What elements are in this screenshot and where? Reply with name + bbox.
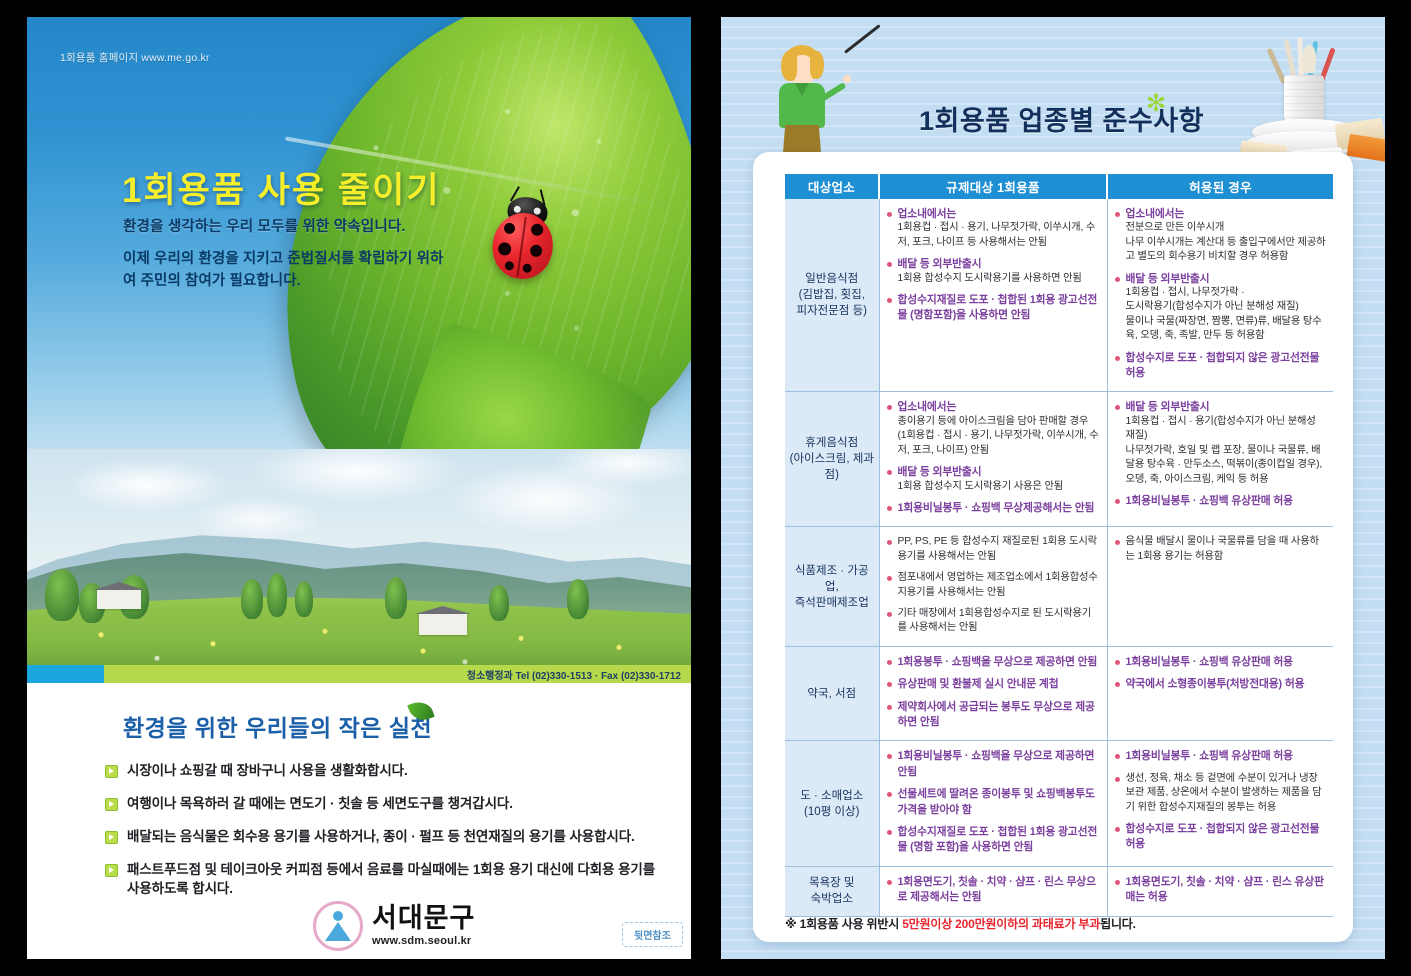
bullet-body: 제약회사에서 공급되는 봉투도 무상으로 제공하면 안됨 bbox=[898, 701, 1095, 728]
row-allowed-items: 배달 등 외부반출시1회용컵 · 접시 · 용기(합성수지가 아닌 분해성 재질… bbox=[1107, 392, 1333, 527]
row-regulated-items: PP, PS, PE 등 합성수지 재질로된 1회용 도시락용기를 사용해서는 … bbox=[879, 527, 1107, 646]
plastic-bag bbox=[1347, 134, 1385, 162]
row-category: 식품제조 · 가공업,즉석판매제조업 bbox=[785, 527, 879, 646]
bullet-body: 합성수지재질로 도포 · 첩합된 1회용 광고선전물 (명함포함)을 사용하면 … bbox=[898, 294, 1098, 321]
row-category: 일반음식점(김밥집, 횟집,피자전문점 등) bbox=[785, 199, 879, 392]
sdm-logo: 서대문구 www.sdm.seoul.kr bbox=[313, 901, 475, 951]
bullet-body: 물이나 국물(짜장면, 짬뽕, 면류)류, 배달용 탕수육, 오뎅, 죽, 족발… bbox=[1126, 316, 1322, 341]
spoon bbox=[1301, 45, 1317, 74]
bullet-item: 합성수지재질로 도포 · 첩합된 1회용 광고선전물 (명함포함)을 사용하면 … bbox=[887, 293, 1100, 324]
table-row: 휴게음식점(아이스크림, 제과점)업소내에서는종이용기 등에 아이스크림을 담아… bbox=[785, 392, 1333, 527]
bullet-heading: 배달 등 외부반출시 bbox=[1126, 272, 1327, 286]
row-regulated-items: 1회용비닐봉투 · 쇼핑백을 무상으로 제공하면 안됨선물세트에 딸려온 종이봉… bbox=[879, 741, 1107, 866]
bullet-body: 1회용비닐봉투 · 쇼핑백 무상제공해서는 안됨 bbox=[898, 502, 1095, 514]
homepage-url-text: 1회용품 홈페이지 www.me.go.kr bbox=[60, 50, 210, 65]
column-header-category: 대상업소 bbox=[785, 174, 879, 199]
bullet-item: 1회용면도기, 칫솔 · 치약 · 샴프 · 린스 무상으로 제공해서는 안됨 bbox=[887, 875, 1100, 906]
table-row: 식품제조 · 가공업,즉석판매제조업PP, PS, PE 등 합성수지 재질로된… bbox=[785, 527, 1333, 646]
penalty-note: ※ 1회용품 사용 위반시 5만원이상 200만원이하의 과태료가 부과됩니다. bbox=[785, 915, 1136, 932]
teacher-hair-left bbox=[781, 51, 797, 81]
pointer-stick-icon bbox=[844, 24, 881, 53]
bullet-item: 약국에서 소형종이봉투(처방전대용) 허용 bbox=[1115, 677, 1327, 692]
list-item: 배달되는 음식물은 회수용 용기를 사용하거나, 종이 · 펄프 등 천연재질의… bbox=[105, 827, 665, 846]
practice-title: 환경을 위한 우리들의 작은 실천 bbox=[123, 709, 432, 743]
landscape-photo bbox=[27, 449, 691, 667]
row-regulated-items: 1회용면도기, 칫솔 · 치약 · 샴프 · 린스 무상으로 제공해서는 안됨 bbox=[879, 866, 1107, 916]
bullet-body: 1회용비닐봉투 · 쇼핑백 유상판매 허용 bbox=[1126, 750, 1293, 762]
bullet-item: 제약회사에서 공급되는 봉투도 무상으로 제공하면 안됨 bbox=[887, 700, 1100, 731]
bullet-item: 1회용봉투 · 쇼핑백을 무상으로 제공하면 안됨 bbox=[887, 655, 1100, 670]
right-page-brochure-back: 1회용품 업종별 준수사항 ✻ 대상업소 규제대상 1회용품 허용된 경우 일반… bbox=[721, 17, 1385, 959]
row-category: 약국, 서점 bbox=[785, 646, 879, 741]
bullet-body: 유상판매 및 환불제 실시 안내문 계첩 bbox=[898, 678, 1059, 690]
bullet-item: 1회용비닐봉투 · 쇼핑백 유상판매 허용 bbox=[1115, 494, 1327, 509]
house bbox=[419, 613, 467, 635]
ladybug-illustration bbox=[486, 191, 561, 283]
row-regulated-items: 업소내에서는1회용컵 · 접시 · 용기, 나무젓가락, 이쑤시개, 수저, 포… bbox=[879, 199, 1107, 392]
bullet-item: 1회용비닐봉투 · 쇼핑백을 무상으로 제공하면 안됨 bbox=[887, 749, 1100, 780]
bullet-body: 1회용비닐봉투 · 쇼핑백 유상판매 허용 bbox=[1126, 495, 1293, 507]
row-allowed-items: 음식물 배달시 물이나 국물류를 담을 때 사용하는 1회용 용기는 허용함 bbox=[1107, 527, 1333, 646]
tree bbox=[385, 577, 407, 619]
teacher-hair-right bbox=[810, 51, 824, 79]
district-name: 서대문구 bbox=[372, 905, 475, 932]
district-url: www.sdm.seoul.kr bbox=[372, 936, 475, 947]
table-body: 일반음식점(김밥집, 횟집,피자전문점 등)업소내에서는1회용컵 · 접시 · … bbox=[785, 199, 1333, 916]
row-allowed-items: 업소내에서는전분으로 만든 이쑤시개나무 이쑤시개는 계산대 등 출입구에서만 … bbox=[1107, 199, 1333, 392]
table-row: 약국, 서점1회용봉투 · 쇼핑백을 무상으로 제공하면 안됨유상판매 및 환불… bbox=[785, 646, 1333, 741]
tree bbox=[295, 581, 313, 617]
bullet-item: 음식물 배달시 물이나 국물류를 담을 때 사용하는 1회용 용기는 허용함 bbox=[1115, 535, 1327, 564]
arrow-bullet-icon bbox=[105, 798, 118, 811]
table-row: 일반음식점(김밥집, 횟집,피자전문점 등)업소내에서는1회용컵 · 접시 · … bbox=[785, 199, 1333, 392]
bullet-body: 합성수지재질로 도포 · 첩합된 1회용 광고선전물 (명함 포함)을 사용하면… bbox=[898, 826, 1098, 853]
bullet-body: 합성수지로 도포 · 첩합되지 않은 광고선전물 허용 bbox=[1126, 352, 1320, 379]
bullet-body: 1회용컵 · 접시, 나무젓가락 · bbox=[1126, 287, 1245, 298]
row-regulated-items: 1회용봉투 · 쇼핑백을 무상으로 제공하면 안됨유상판매 및 환불제 실시 안… bbox=[879, 646, 1107, 741]
arrow-bullet-icon bbox=[105, 831, 118, 844]
contact-info: 청소행정과 Tel (02)330-1513 · Fax (02)330-171… bbox=[467, 667, 681, 682]
bullet-body: 점포내에서 영업하는 제조업소에서 1회용합성수지용기를 사용해서는 안됨 bbox=[898, 572, 1098, 597]
row-regulated-items: 업소내에서는종이용기 등에 아이스크림을 담아 판매할 경우(1회용컵 · 접시… bbox=[879, 392, 1107, 527]
bullet-item: 1회용비닐봉투 · 쇼핑백 유상판매 허용 bbox=[1115, 655, 1327, 670]
bullet-item: 업소내에서는종이용기 등에 아이스크림을 담아 판매할 경우(1회용컵 · 접시… bbox=[887, 400, 1100, 458]
sdm-logo-emblem-icon bbox=[313, 901, 363, 951]
arrow-bullet-icon bbox=[105, 765, 118, 778]
bullet-body: 도시락용기(합성수지가 아닌 분해성 재질) bbox=[1126, 301, 1299, 312]
penalty-note-suffix: 됩니다. bbox=[1100, 917, 1136, 931]
bullet-item: 유상판매 및 환불제 실시 안내문 계첩 bbox=[887, 677, 1100, 692]
bullet-heading: 업소내에서는 bbox=[898, 400, 1100, 414]
star-accent-icon: ✻ bbox=[1146, 89, 1166, 118]
subtitle-secondary: 이제 우리의 환경을 지키고 준법질서를 확립하기 위하여 주민의 참여가 필요… bbox=[123, 248, 453, 292]
bullet-body: 나무젓가락, 호일 및 랩 포장, 물이나 국물류, 배달용 탕수육 · 만두소… bbox=[1126, 445, 1323, 485]
bullet-body: 선물세트에 딸려온 종이봉투 및 쇼핑백봉투도 가격을 받아야 함 bbox=[898, 788, 1095, 815]
bullet-body: 합성수지로 도포 · 첩합되지 않은 광고선전물 허용 bbox=[1126, 823, 1320, 850]
bullet-heading: 업소내에서는 bbox=[898, 207, 1100, 221]
practice-item-text: 여행이나 목욕하러 갈 때에는 면도기 · 칫솔 등 세면도구를 챙겨갑시다. bbox=[127, 794, 513, 813]
sdm-logo-text: 서대문구 www.sdm.seoul.kr bbox=[372, 905, 475, 947]
row-category: 도 · 소매업소(10평 이상) bbox=[785, 741, 879, 866]
bullet-body: 1회용컵 · 접시 · 용기, 나무젓가락, 이쑤시개, 수저, 포크, 나이프… bbox=[898, 222, 1096, 247]
bullet-body: 기타 매장에서 1회용합성수지로 된 도시락용기를 사용해서는 안됨 bbox=[898, 608, 1092, 633]
tree bbox=[567, 579, 589, 619]
bullet-body: 1회용면도기, 칫솔 · 치약 · 샴프 · 린스 유상판매는 허용 bbox=[1126, 876, 1324, 903]
bullet-body: (1회용컵 · 접시 · 용기, 나무젓가락, 이쑤시개, 수저, 포크, 나이… bbox=[898, 430, 1099, 455]
bullet-item: PP, PS, PE 등 합성수지 재질로된 1회용 도시락용기를 사용해서는 … bbox=[887, 535, 1100, 564]
bullet-item: 1회용비닐봉투 · 쇼핑백 무상제공해서는 안됨 bbox=[887, 501, 1100, 516]
column-header-allowed: 허용된 경우 bbox=[1107, 174, 1333, 199]
bullet-body: 1회용컵 · 접시 · 용기(합성수지가 아닌 분해성 재질) bbox=[1126, 416, 1316, 441]
tree bbox=[241, 579, 263, 619]
bullet-item: 합성수지로 도포 · 첩합되지 않은 광고선전물 허용 bbox=[1115, 351, 1327, 382]
row-allowed-items: 1회용비닐봉투 · 쇼핑백 유상판매 허용약국에서 소형종이봉투(처방전대용) … bbox=[1107, 646, 1333, 741]
practice-item-text: 배달되는 음식물은 회수용 용기를 사용하거나, 종이 · 펄프 등 천연재질의… bbox=[127, 827, 635, 846]
teacher-hand bbox=[843, 75, 851, 83]
table-row: 도 · 소매업소(10평 이상)1회용비닐봉투 · 쇼핑백을 무상으로 제공하면… bbox=[785, 741, 1333, 866]
tree bbox=[489, 585, 509, 621]
bullet-body: PP, PS, PE 등 합성수지 재질로된 1회용 도시락용기를 사용해서는 … bbox=[898, 536, 1097, 561]
bullet-item: 1회용비닐봉투 · 쇼핑백 유상판매 허용 bbox=[1115, 749, 1327, 764]
bullet-item: 업소내에서는전분으로 만든 이쑤시개나무 이쑤시개는 계산대 등 출입구에서만 … bbox=[1115, 207, 1327, 265]
bullet-item: 배달 등 외부반출시1회용컵 · 접시, 나무젓가락 ·도시락용기(합성수지가 … bbox=[1115, 272, 1327, 344]
bullet-body: 나무 이쑤시개는 계산대 등 출입구에서만 제공하고 별도의 회수용기 비치할 … bbox=[1126, 237, 1326, 262]
penalty-amount: 5만원이상 200만원이하의 과태료가 부과 bbox=[902, 917, 1100, 931]
page-title: 1회용품 사용 줄이기 bbox=[122, 162, 441, 213]
bullet-heading: 배달 등 외부반출시 bbox=[898, 257, 1100, 271]
row-category: 휴게음식점(아이스크림, 제과점) bbox=[785, 392, 879, 527]
row-category: 목욕장 및숙박업소 bbox=[785, 866, 879, 916]
bullet-body: 1회용비닐봉투 · 쇼핑백을 무상으로 제공하면 안됨 bbox=[898, 750, 1095, 777]
bullet-item: 생선, 정육, 채소 등 겉면에 수분이 있거나 냉장보관 제품, 상온에서 수… bbox=[1115, 772, 1327, 815]
bullet-item: 업소내에서는1회용컵 · 접시 · 용기, 나무젓가락, 이쑤시개, 수저, 포… bbox=[887, 207, 1100, 250]
bullet-item: 배달 등 외부반출시1회용컵 · 접시 · 용기(합성수지가 아닌 분해성 재질… bbox=[1115, 400, 1327, 486]
bullet-body: 약국에서 소형종이봉투(처방전대용) 허용 bbox=[1126, 678, 1305, 690]
practice-item-text: 패스트푸드점 및 테이크아웃 커피점 등에서 음료를 마실때에는 1회용 용기 … bbox=[127, 860, 665, 898]
bullet-body: 음식물 배달시 물이나 국물류를 담을 때 사용하는 1회용 용기는 허용함 bbox=[1126, 536, 1319, 561]
compliance-table: 대상업소 규제대상 1회용품 허용된 경우 일반음식점(김밥집, 횟집,피자전문… bbox=[785, 174, 1333, 917]
bullet-item: 점포내에서 영업하는 제조업소에서 1회용합성수지용기를 사용해서는 안됨 bbox=[887, 571, 1100, 600]
bullet-body: 1회용봉투 · 쇼핑백을 무상으로 제공하면 안됨 bbox=[898, 656, 1098, 668]
bullet-heading: 업소내에서는 bbox=[1126, 207, 1327, 221]
table-header-row: 대상업소 규제대상 1회용품 허용된 경우 bbox=[785, 174, 1333, 199]
bullet-item: 합성수지재질로 도포 · 첩합된 1회용 광고선전물 (명함 포함)을 사용하면… bbox=[887, 825, 1100, 856]
list-item: 여행이나 목욕하러 갈 때에는 면도기 · 칫솔 등 세면도구를 챙겨갑시다. bbox=[105, 794, 665, 813]
bullet-item: 기타 매장에서 1회용합성수지로 된 도시락용기를 사용해서는 안됨 bbox=[887, 607, 1100, 636]
house bbox=[97, 589, 141, 609]
bullet-body: 종이용기 등에 아이스크림을 담아 판매할 경우 bbox=[898, 416, 1089, 427]
bullet-item: 배달 등 외부반출시1회용 합성수지 도시락용기 사용은 안됨 bbox=[887, 465, 1100, 494]
row-allowed-items: 1회용비닐봉투 · 쇼핑백 유상판매 허용생선, 정육, 채소 등 겉면에 수분… bbox=[1107, 741, 1333, 866]
bullet-body: 전분으로 만든 이쑤시개 bbox=[1126, 222, 1225, 233]
bullet-item: 선물세트에 딸려온 종이봉투 및 쇼핑백봉투도 가격을 받아야 함 bbox=[887, 787, 1100, 818]
row-allowed-items: 1회용면도기, 칫솔 · 치약 · 샴프 · 린스 유상판매는 허용 bbox=[1107, 866, 1333, 916]
practice-list: 시장이나 쇼핑갈 때 장바구니 사용을 생활화합시다. 여행이나 목욕하러 갈 … bbox=[105, 761, 665, 912]
bullet-body: 1회용면도기, 칫솔 · 치약 · 샴프 · 린스 무상으로 제공해서는 안됨 bbox=[898, 876, 1096, 903]
list-item: 패스트푸드점 및 테이크아웃 커피점 등에서 음료를 마실때에는 1회용 용기 … bbox=[105, 860, 665, 898]
subtitle-primary: 환경을 생각하는 우리 모두를 위한 약속입니다. bbox=[123, 215, 406, 236]
column-header-regulated: 규제대상 1회용품 bbox=[879, 174, 1107, 199]
bullet-heading: 배달 등 외부반출시 bbox=[898, 465, 1100, 479]
arrow-bullet-icon bbox=[105, 864, 118, 877]
bullet-item: 1회용면도기, 칫솔 · 치약 · 샴프 · 린스 유상판매는 허용 bbox=[1115, 875, 1327, 906]
bullet-body: 1회용 합성수지 도시락용기 사용은 안됨 bbox=[898, 481, 1064, 492]
penalty-note-prefix: ※ 1회용품 사용 위반시 bbox=[785, 917, 902, 931]
bullet-body: 1회용 합성수지 도시락용기를 사용하면 안됨 bbox=[898, 273, 1082, 284]
back-reference-badge[interactable]: 뒷면참조 bbox=[622, 922, 683, 947]
bullet-heading: 배달 등 외부반출시 bbox=[1126, 400, 1327, 414]
table-row: 목욕장 및숙박업소1회용면도기, 칫솔 · 치약 · 샴프 · 린스 무상으로 … bbox=[785, 866, 1333, 916]
list-item: 시장이나 쇼핑갈 때 장바구니 사용을 생활화합시다. bbox=[105, 761, 665, 780]
bullet-body: 1회용비닐봉투 · 쇼핑백 유상판매 허용 bbox=[1126, 656, 1293, 668]
bullet-item: 합성수지로 도포 · 첩합되지 않은 광고선전물 허용 bbox=[1115, 822, 1327, 853]
bullet-body: 생선, 정육, 채소 등 겉면에 수분이 있거나 냉장보관 제품, 상온에서 수… bbox=[1126, 773, 1322, 813]
practice-item-text: 시장이나 쇼핑갈 때 장바구니 사용을 생활화합시다. bbox=[127, 761, 408, 780]
tree bbox=[267, 573, 287, 617]
bullet-item: 배달 등 외부반출시1회용 합성수지 도시락용기를 사용하면 안됨 bbox=[887, 257, 1100, 286]
left-page-brochure-front: 1회용품 홈페이지 www.me.go.kr 1회용품 사용 줄이기 환경을 생… bbox=[27, 17, 691, 959]
blue-tab-accent bbox=[27, 665, 104, 683]
tree bbox=[45, 569, 79, 621]
